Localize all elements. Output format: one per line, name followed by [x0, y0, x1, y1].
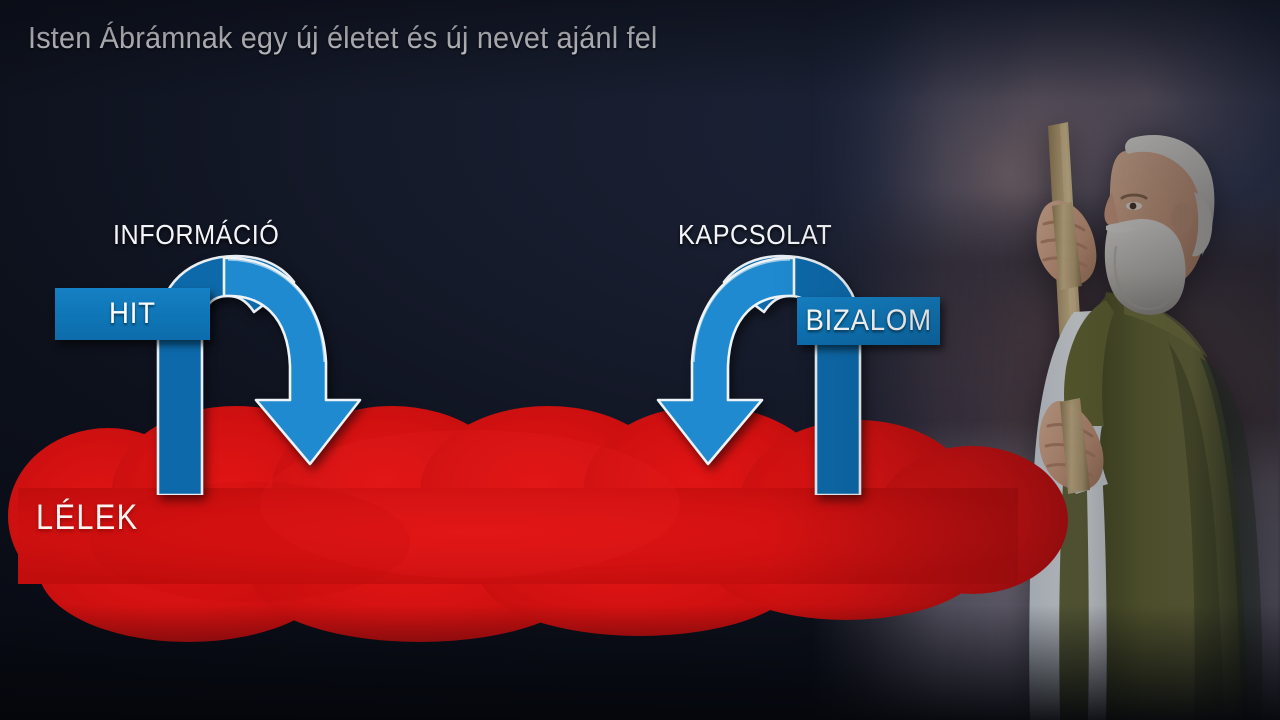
curved-arrow-down-left-icon	[630, 250, 880, 495]
label-box-hit-text: HIT	[109, 297, 156, 331]
caption-kapcsolat: KAPCSOLAT	[678, 219, 832, 251]
cloud-label-lelek: LÉLEK	[36, 498, 138, 538]
curved-arrow-down-right-icon	[138, 250, 388, 495]
label-box-bizalom[interactable]: BIZALOM	[797, 297, 940, 345]
label-box-hit[interactable]: HIT	[55, 288, 210, 340]
slide: LÉLEK Isten Ábrámnak egy új életet és új…	[0, 0, 1280, 720]
page-title: Isten Ábrámnak egy új életet és új nevet…	[28, 20, 658, 56]
caption-informacio: INFORMÁCIÓ	[113, 219, 279, 251]
label-box-bizalom-text: BIZALOM	[805, 304, 931, 338]
